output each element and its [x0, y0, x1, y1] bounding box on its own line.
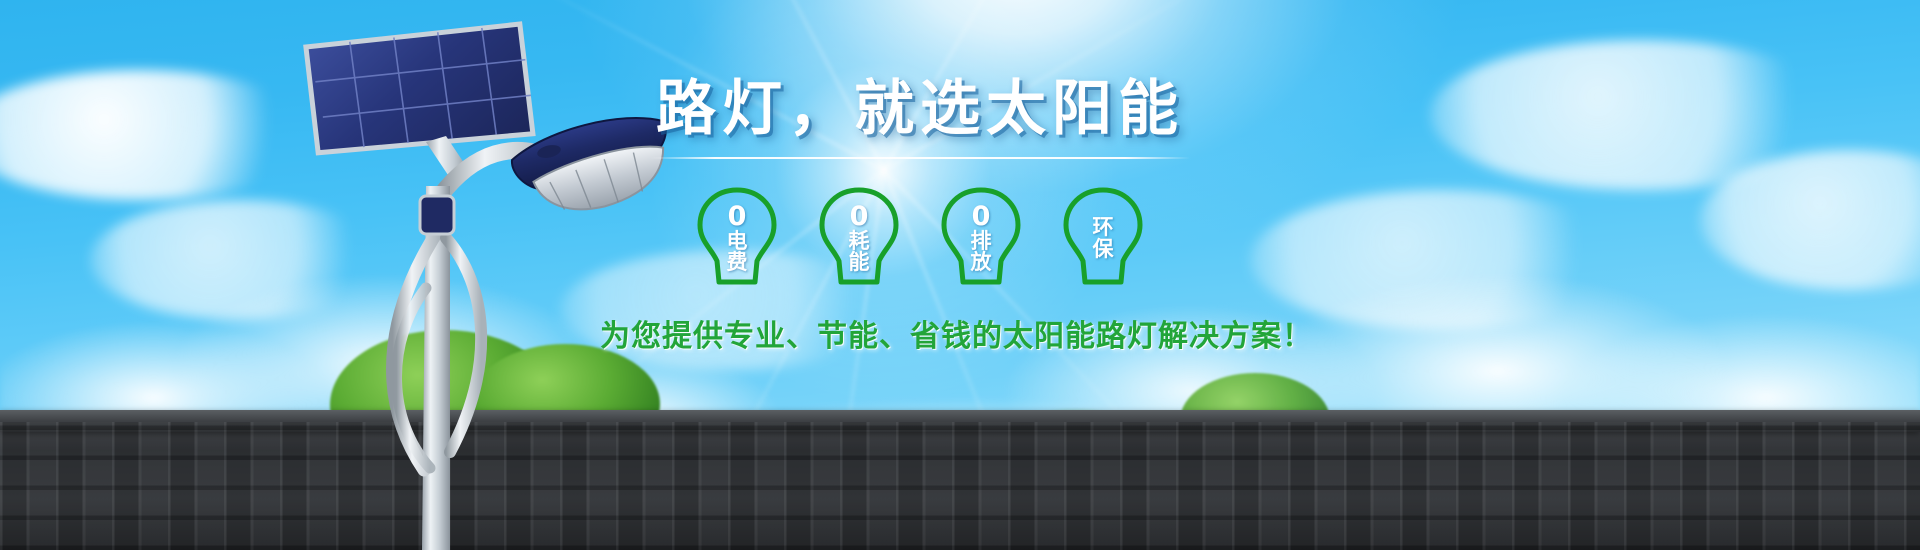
feature-badges: 0 电 费 0 耗 能: [600, 185, 1240, 289]
badge-label-bottom: 保: [1093, 239, 1114, 260]
copy-block: 路灯，就选太阳能 0 电 费: [600, 78, 1240, 355]
badge-label-top: 环: [1093, 217, 1114, 238]
badge-emissions: 0 排 放: [939, 185, 1023, 289]
badge-label-top: 耗: [849, 231, 870, 252]
brick-wall: [0, 422, 1920, 550]
badge-energy-consumption: 0 耗 能: [817, 185, 901, 289]
badge-value: 0: [728, 203, 747, 230]
wall-texture: [0, 422, 1920, 550]
tagline: 为您提供专业、节能、省钱的太阳能路灯解决方案！: [600, 311, 1240, 355]
controller-box: [420, 196, 454, 234]
badge-value: 0: [972, 203, 991, 230]
decor-loop-inner: [446, 238, 481, 452]
badge-label-bottom: 放: [971, 252, 992, 273]
badge-electricity-cost: 0 电 费: [695, 185, 779, 289]
badge-label-bottom: 能: [849, 252, 870, 273]
badge-label-top: 排: [971, 231, 992, 252]
title-divider: [650, 157, 1190, 159]
solar-streetlight-banner: 路灯，就选太阳能 0 电 费: [0, 0, 1920, 550]
badge-label-top: 电: [727, 231, 748, 252]
badge-value: 0: [850, 203, 869, 230]
page-title: 路灯，就选太阳能: [600, 78, 1240, 141]
badge-label-bottom: 费: [727, 252, 748, 273]
badge-eco-friendly: 环 保: [1061, 185, 1145, 289]
